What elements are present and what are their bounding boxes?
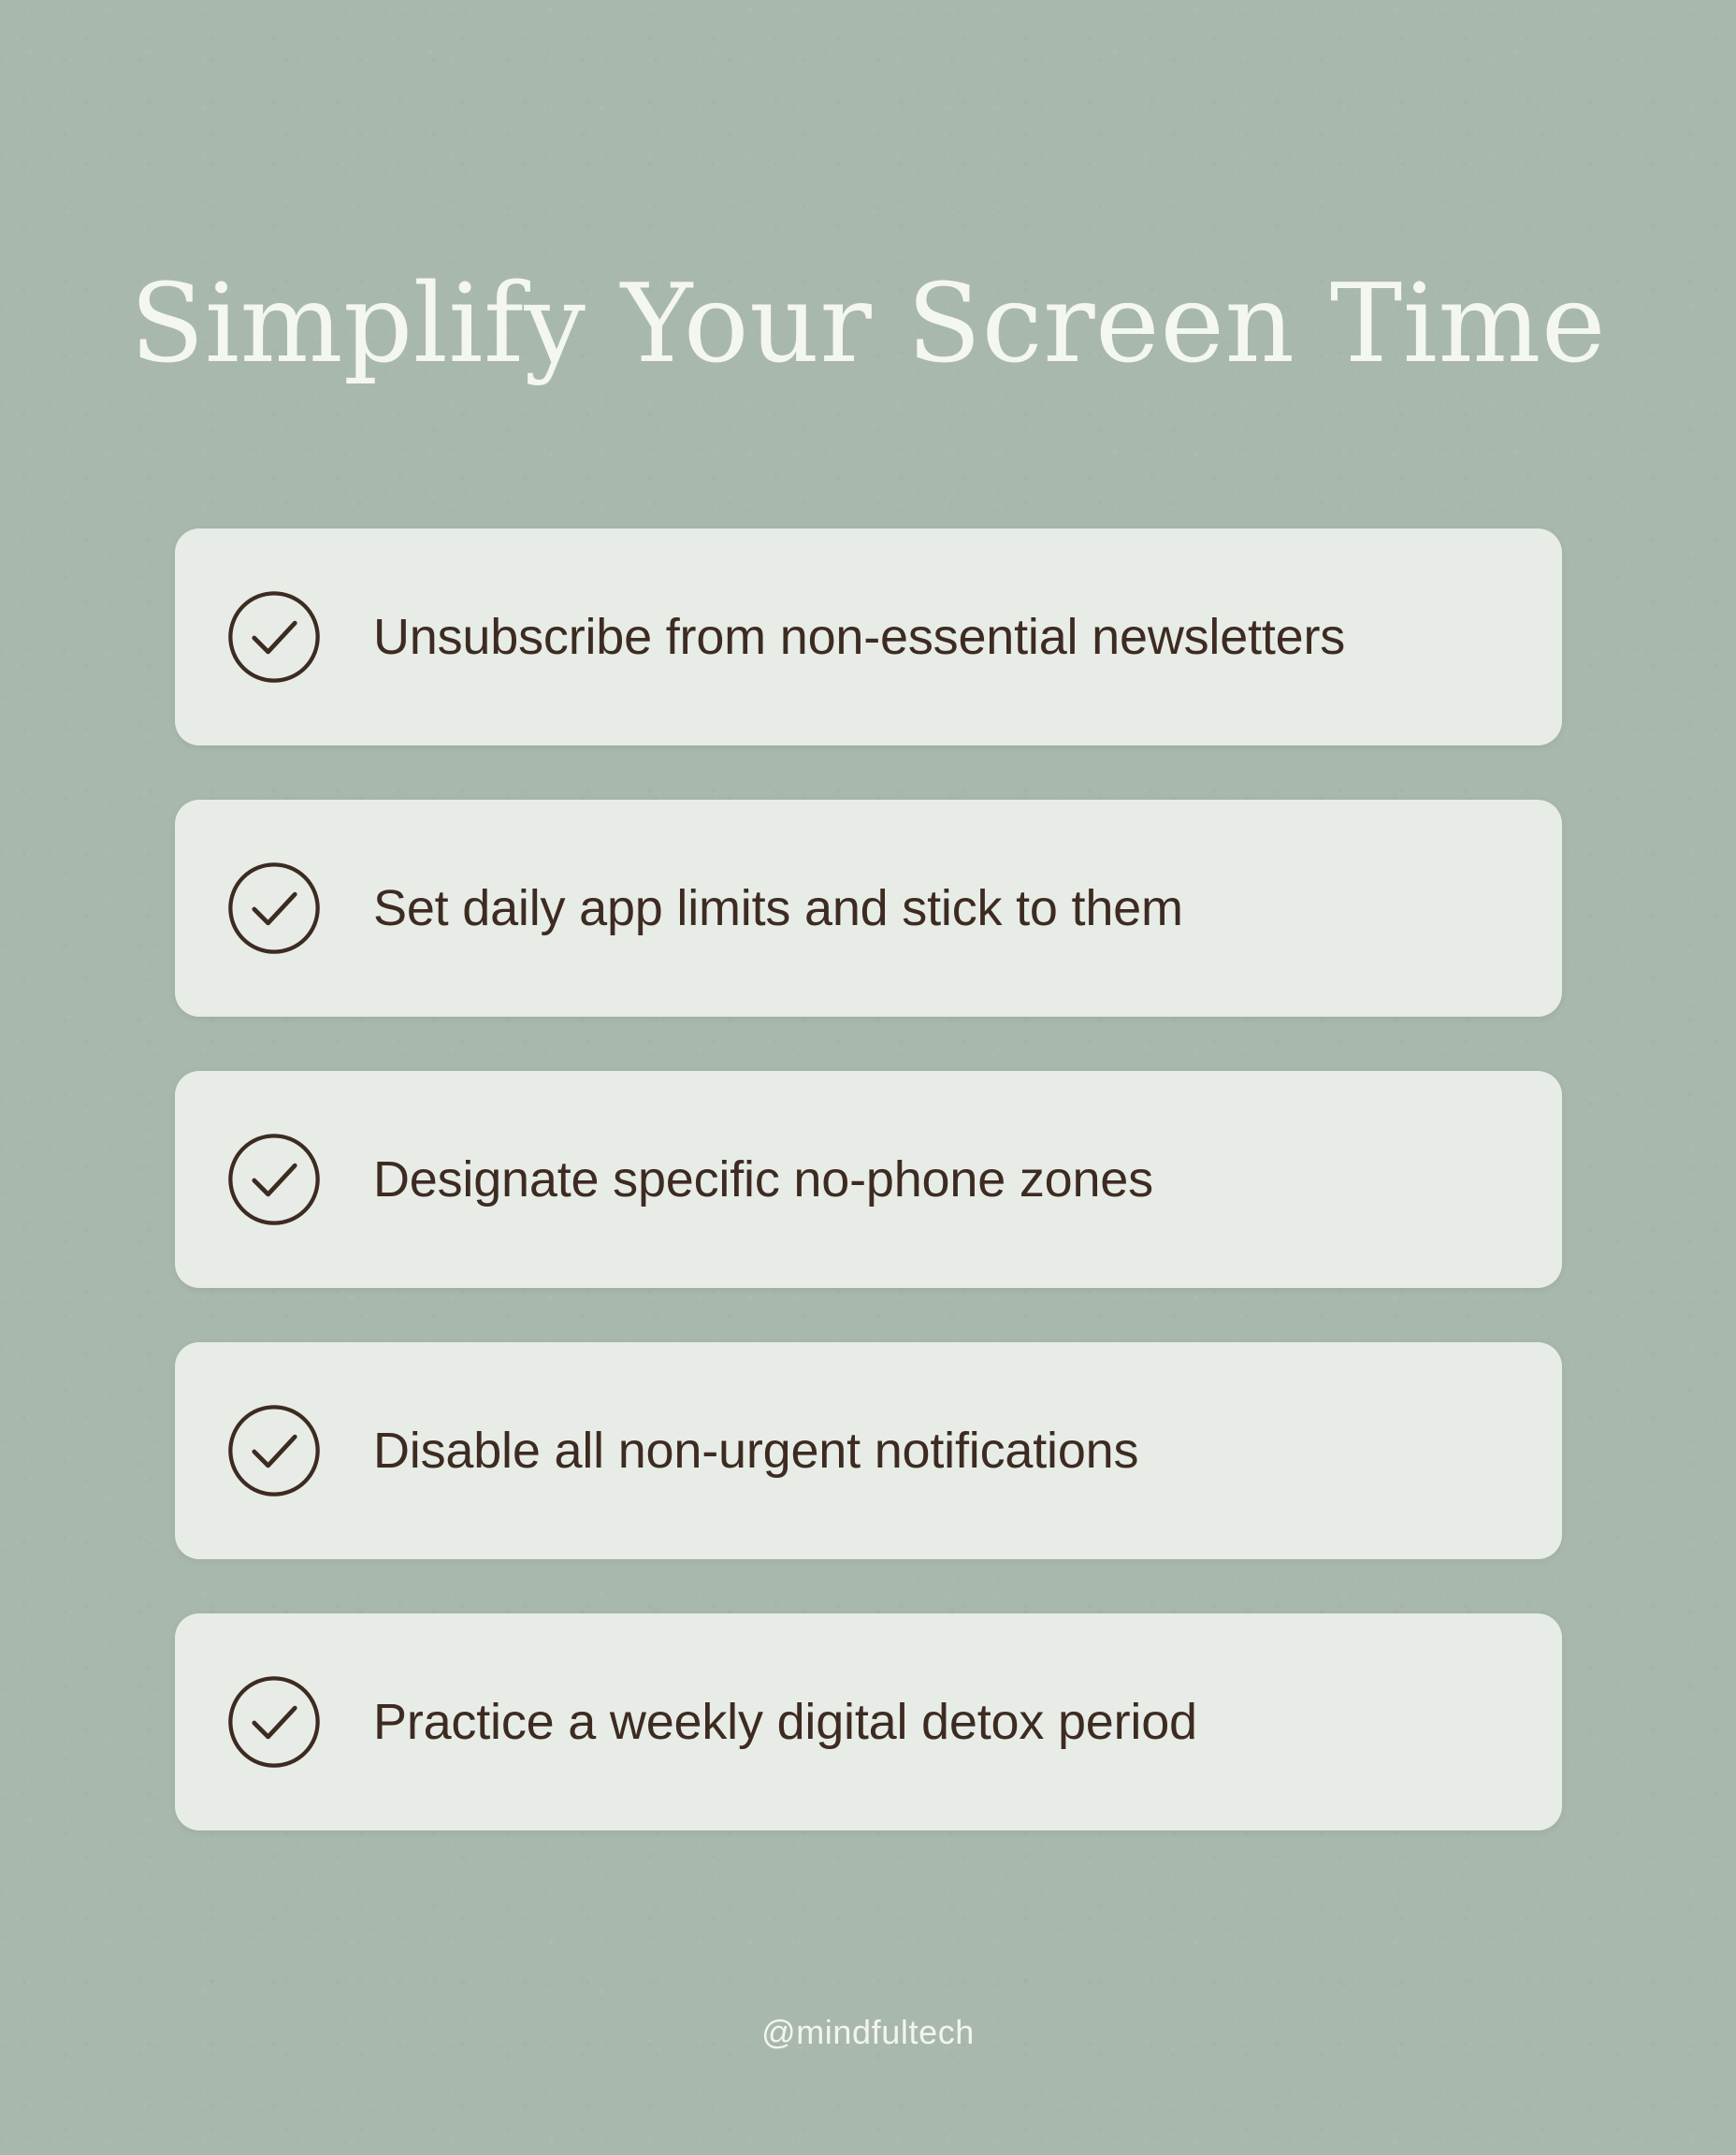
list-item[interactable]: Designate specific no-phone zones — [175, 1071, 1562, 1288]
check-circle-icon — [224, 1401, 324, 1500]
list-item[interactable]: Unsubscribe from non-essential newslette… — [175, 528, 1562, 745]
list-item[interactable]: Practice a weekly digital detox period — [175, 1613, 1562, 1830]
poster-canvas: Simplify Your Screen Time Unsubscribe fr… — [0, 0, 1736, 2155]
list-item-label: Designate specific no-phone zones — [373, 1150, 1153, 1208]
checklist: Unsubscribe from non-essential newslette… — [175, 528, 1562, 1830]
list-item-label: Unsubscribe from non-essential newslette… — [373, 608, 1345, 666]
check-circle-icon — [224, 587, 324, 687]
list-item-label: Disable all non-urgent notifications — [373, 1422, 1138, 1480]
check-circle-icon — [224, 1672, 324, 1772]
list-item-label: Set daily app limits and stick to them — [373, 879, 1183, 937]
list-item[interactable]: Set daily app limits and stick to them — [175, 800, 1562, 1017]
social-handle[interactable]: @mindfultech — [0, 2013, 1736, 2052]
check-circle-icon — [224, 1130, 324, 1229]
page-title: Simplify Your Screen Time — [0, 268, 1736, 382]
list-item-label: Practice a weekly digital detox period — [373, 1693, 1197, 1751]
list-item[interactable]: Disable all non-urgent notifications — [175, 1342, 1562, 1559]
check-circle-icon — [224, 859, 324, 958]
